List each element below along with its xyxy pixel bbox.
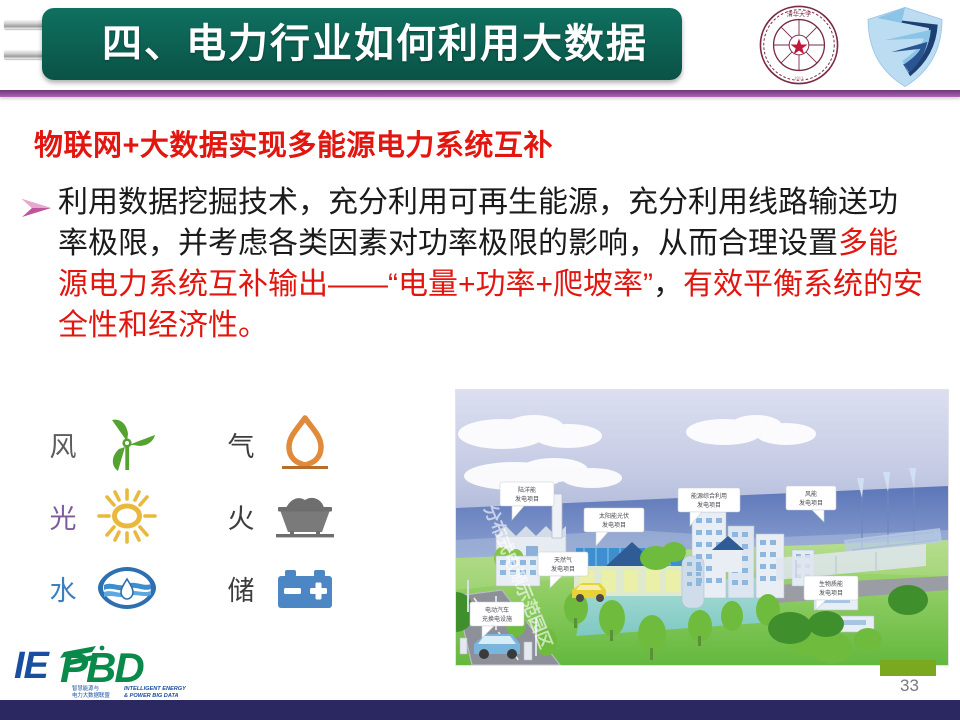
page-title: 四、电力行业如何利用大数据 — [76, 24, 648, 64]
svg-text:太阳能光伏: 太阳能光伏 — [599, 512, 629, 520]
svg-text:INTELLIGENT ENERGY: INTELLIGENT ENERGY — [124, 686, 187, 692]
svg-text:发电项目: 发电项目 — [551, 565, 575, 573]
svg-text:发电项目: 发电项目 — [697, 501, 721, 509]
energy-source-icon-grid: 风 气 — [46, 408, 386, 623]
section-subheading: 物联网+大数据实现多能源电力系统互补 — [34, 122, 553, 164]
page-number-tab — [880, 660, 936, 676]
footer-bar — [0, 700, 960, 720]
svg-text:电力大数据联盟: 电力大数据联盟 — [72, 691, 110, 699]
body-seg-3: ， — [653, 268, 683, 301]
svg-text:风能: 风能 — [805, 490, 817, 498]
arrow-bullet-icon — [20, 196, 54, 220]
svg-text:智慧能源与: 智慧能源与 — [72, 684, 99, 692]
gas-flame-icon — [272, 414, 338, 474]
partner-shield-icon — [862, 4, 948, 88]
energy-label-wind: 风 — [46, 425, 80, 464]
svg-text:生物质能: 生物质能 — [819, 580, 843, 588]
svg-text:发电项目: 发电项目 — [602, 521, 626, 529]
svg-text:陆洋能: 陆洋能 — [518, 486, 536, 494]
battery-icon — [272, 558, 338, 618]
header-divider — [0, 90, 960, 97]
energy-item-storage: 储 — [224, 552, 374, 624]
title-plate: 四、电力行业如何利用大数据 — [42, 8, 682, 80]
svg-text:IE: IE — [14, 645, 51, 687]
iepbd-logo: IE PBD 智慧能源与 电力大数据联盟 INTELLIGENT ENERGY … — [12, 642, 212, 700]
bullet-paragraph-block: 利用数据挖掘技术，充分利用可再生能源，充分利用线路输送功率极限，并考虑各类因素对… — [20, 182, 925, 346]
svg-text:发电项目: 发电项目 — [819, 589, 843, 597]
energy-item-gas: 气 — [224, 408, 374, 480]
distributed-energy-park-illustration: 陆洋能发电项目 天然气发电项目 太阳能光伏发电项目 能源综合利用发电项目 — [456, 390, 948, 665]
svg-text:充换电设施: 充换电设施 — [482, 615, 512, 623]
svg-text:发电项目: 发电项目 — [799, 499, 823, 507]
svg-text:天然气: 天然气 — [554, 556, 572, 564]
svg-text:能源综合利用: 能源综合利用 — [691, 492, 727, 500]
energy-label-coal: 火 — [224, 497, 258, 536]
body-seg-1: 利用数据挖掘技术，充分利用可再生能源，充分利用线路输送功率极限，并考虑各类因素对… — [58, 186, 898, 260]
coal-cart-icon — [272, 486, 338, 546]
energy-label-solar: 光 — [46, 497, 80, 536]
wind-turbine-icon — [94, 414, 160, 474]
energy-label-hydro: 水 — [46, 569, 80, 608]
energy-label-gas: 气 — [224, 425, 258, 464]
slide-header: 四、电力行业如何利用大数据 清华大学 1911 — [0, 0, 960, 92]
svg-text:& POWER BIG DATA: & POWER BIG DATA — [124, 693, 178, 699]
svg-text:发电项目: 发电项目 — [515, 495, 539, 503]
energy-item-hydro: 水 — [46, 552, 196, 624]
energy-item-coal: 火 — [224, 480, 374, 552]
svg-text:1911: 1911 — [794, 76, 803, 80]
sun-icon — [94, 486, 160, 546]
water-drop-icon — [94, 558, 160, 618]
page-number: 33 — [900, 676, 919, 696]
energy-item-solar: 光 — [46, 480, 196, 552]
energy-item-wind: 风 — [46, 408, 196, 480]
svg-text:电动汽车: 电动汽车 — [485, 606, 509, 614]
slide-root: 四、电力行业如何利用大数据 清华大学 1911 — [0, 0, 960, 720]
tsinghua-seal-icon: 清华大学 1911 — [758, 4, 840, 86]
energy-label-storage: 储 — [224, 569, 258, 608]
svg-text:清华大学: 清华大学 — [787, 10, 812, 18]
body-paragraph: 利用数据挖掘技术，充分利用可再生能源，充分利用线路输送功率极限，并考虑各类因素对… — [58, 182, 925, 346]
